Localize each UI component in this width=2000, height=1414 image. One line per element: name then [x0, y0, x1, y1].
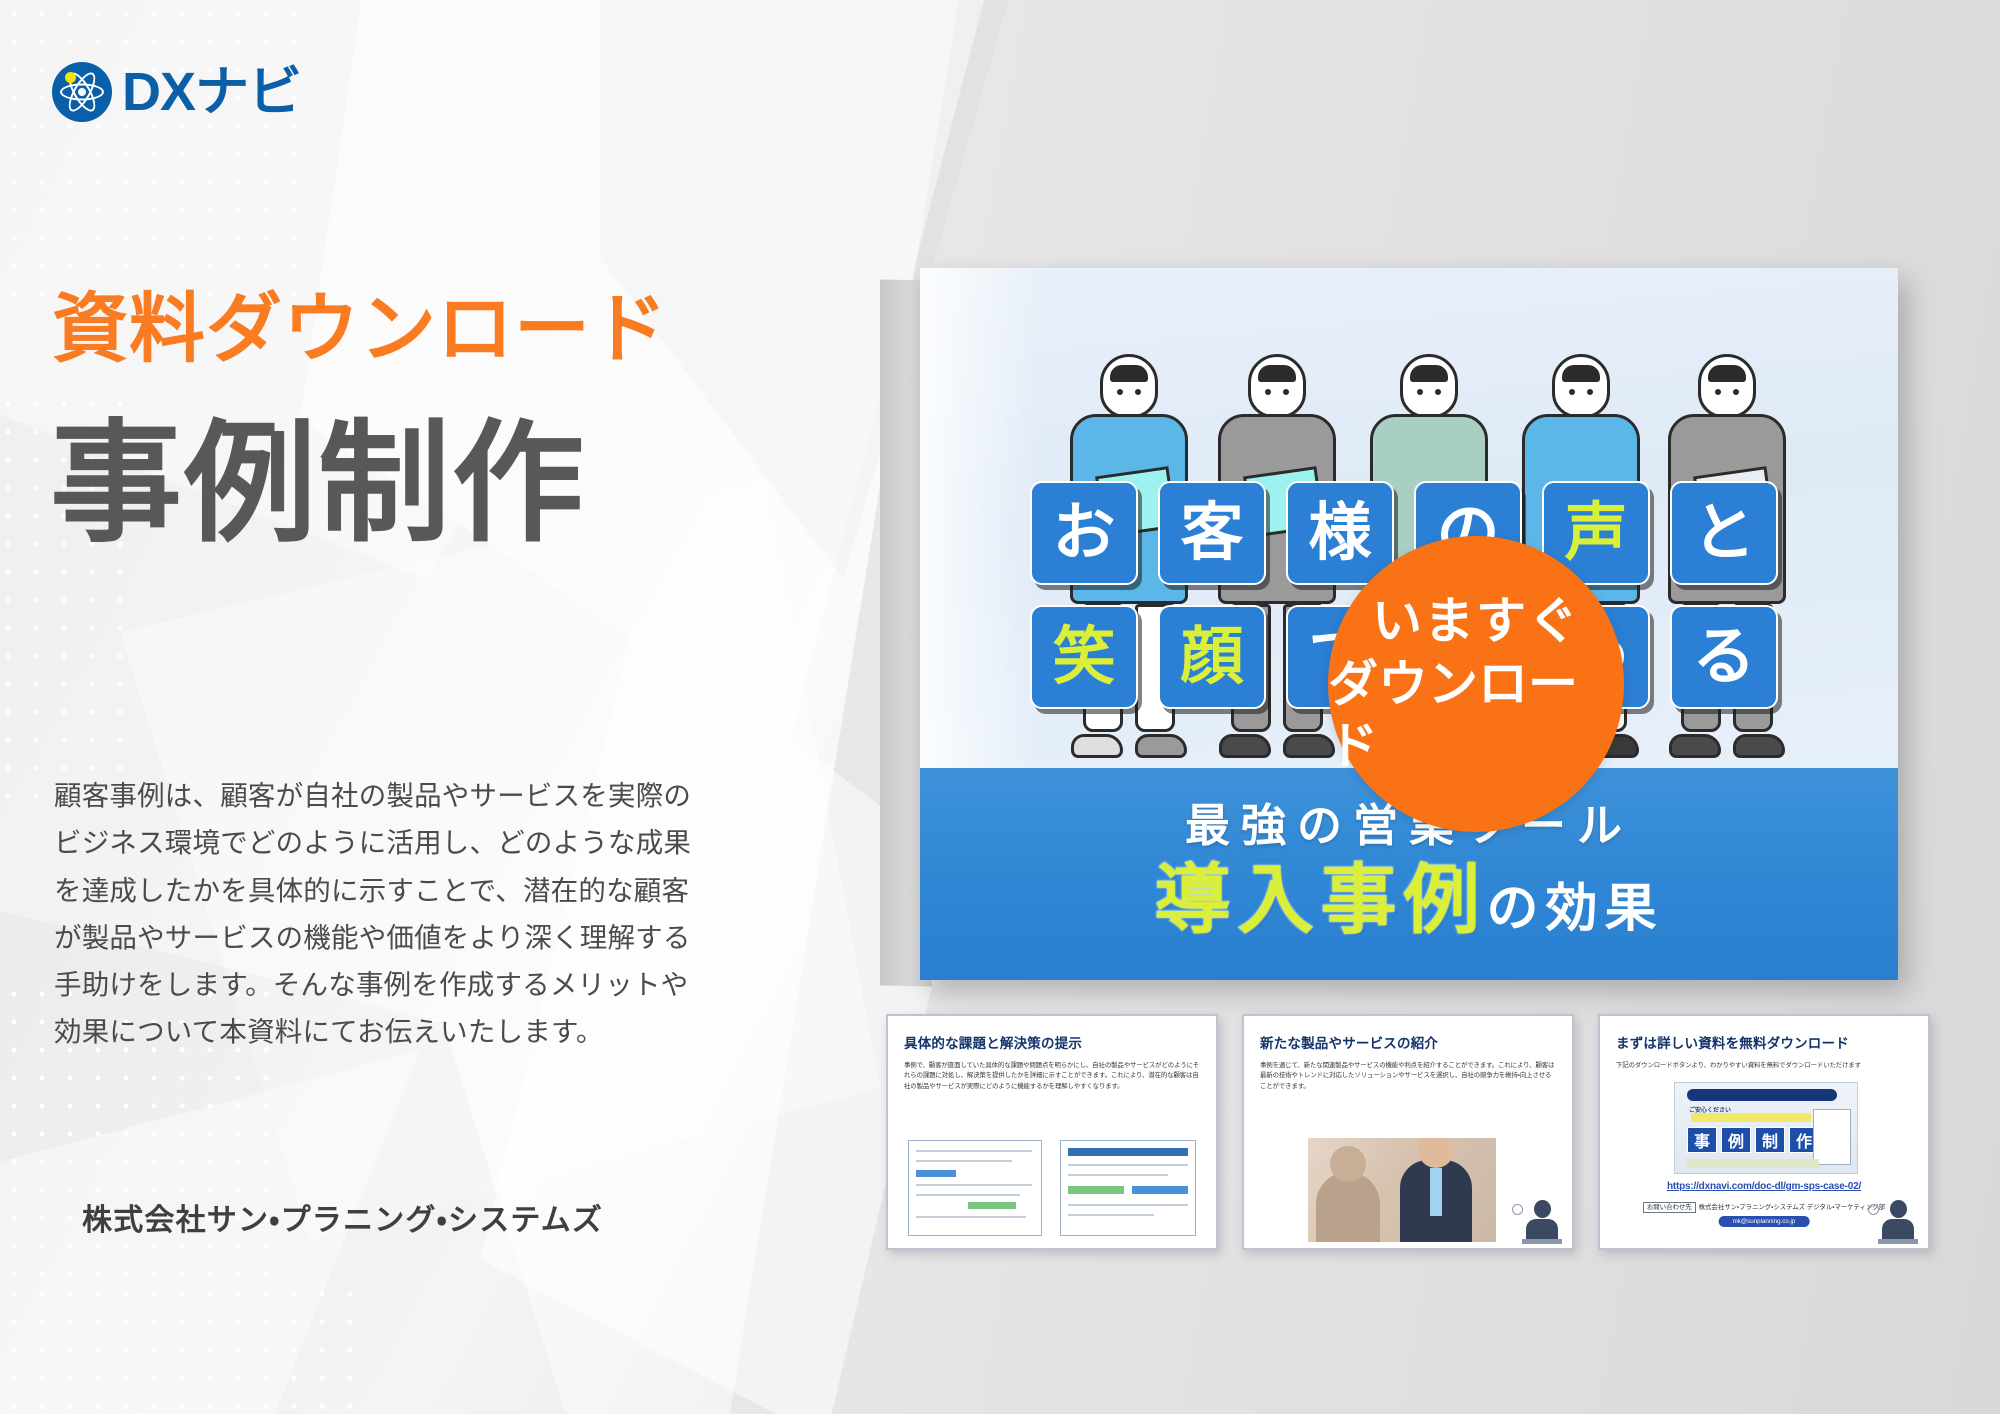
cover-tile: る: [1670, 605, 1778, 709]
body-description: 顧客事例は、顧客が自社の製品やサービスを実際のビジネス環境でどのように活用し、ど…: [54, 772, 702, 1056]
atom-icon: [52, 62, 112, 122]
contact-email[interactable]: mk@sunplanning.co.jp: [1719, 1216, 1810, 1227]
brand-logo-text: DXナビ: [122, 65, 301, 119]
ad-char-tile: 事: [1687, 1127, 1717, 1153]
cover-tile: 笑: [1030, 605, 1138, 709]
ad-char-tile: 制: [1755, 1127, 1785, 1153]
slide-thumbnail-list: 具体的な課題と解決策の提示 事例で、顧客が直面していた具体的な課題や問題点を明ら…: [886, 1014, 1930, 1250]
cover-tile: 顔: [1158, 605, 1266, 709]
kicker-heading: 資料ダウンロード: [52, 288, 668, 372]
download-badge[interactable]: いますぐ ダウンロード: [1328, 536, 1624, 832]
ad-character-tiles: 事 例 制 作: [1687, 1127, 1819, 1153]
thumbnail-photo: [1308, 1138, 1496, 1242]
company-name: 株式会社サン・プラニング・システムズ: [82, 1195, 603, 1239]
slide-thumbnail[interactable]: まずは詳しい資料を無料ダウンロード 下記のダウンロードボタンより、わかりやすい資…: [1598, 1014, 1930, 1250]
slide-thumbnail[interactable]: 新たな製品やサービスの紹介 事例を通じて、新たな関連製品やサービスの機能や利点を…: [1242, 1014, 1574, 1250]
cover-maintitle-tail: の効果: [1486, 880, 1663, 938]
presenter-icon: [1878, 1200, 1918, 1244]
contact-label: お問い合わせ先: [1643, 1202, 1696, 1213]
download-badge-line1: いますぐ: [1372, 590, 1580, 653]
slide-thumbnail-art: [1244, 1130, 1572, 1248]
presenter-icon: [1522, 1200, 1562, 1244]
contact-org: 株式会社サン・プラニング・システムズ デジタル・マーケティング部: [1699, 1204, 1885, 1211]
body-description-text: 顧客事例は、顧客が自社の製品やサービスを実際のビジネス環境でどのように活用し、ど…: [54, 772, 702, 1056]
cover-tile: と: [1670, 481, 1778, 585]
cover-maintitle: 導入事例の効果: [920, 838, 1898, 948]
cover-tile: 客: [1158, 481, 1266, 585]
slide-thumbnail-title: 新たな製品やサービスの紹介: [1260, 1032, 1556, 1052]
thumbnail-ad-block: ご安心ください 事 例 制 作: [1674, 1082, 1858, 1174]
slide-thumbnail-art: [888, 1130, 1216, 1248]
slide-thumbnail-title: 具体的な課題と解決策の提示: [904, 1032, 1200, 1052]
cover-tile: 様: [1286, 481, 1394, 585]
slide-thumbnail-body: 事例で、顧客が直面していた具体的な課題や問題点を明らかにし、自社の製品やサービス…: [904, 1061, 1200, 1092]
slide-thumbnail[interactable]: 具体的な課題と解決策の提示 事例で、顧客が直面していた具体的な課題や問題点を明ら…: [886, 1014, 1218, 1250]
brand-logo[interactable]: DXナビ: [52, 62, 301, 122]
slide-thumbnail-body: 事例を通じて、新たな関連製品やサービスの機能や利点を紹介することができます。これ…: [1260, 1061, 1556, 1092]
page-title: 事例制作: [50, 410, 586, 558]
download-badge-line2: ダウンロード: [1328, 653, 1624, 778]
slide-thumbnail-title: まずは詳しい資料を無料ダウンロード: [1616, 1032, 1912, 1052]
download-url-link[interactable]: https://dxnavi.com/doc-dl/gm-sps-case-02…: [1600, 1181, 1928, 1192]
cover-maintitle-highlight: 導入事例: [1154, 858, 1486, 943]
ad-char-tile: 例: [1721, 1127, 1751, 1153]
cover-tile: お: [1030, 481, 1138, 585]
left-content-column: DXナビ 資料ダウンロード 事例制作 顧客事例は、顧客が自社の製品やサービスを実…: [0, 0, 720, 1414]
page-canvas: DXナビ 資料ダウンロード 事例制作 顧客事例は、顧客が自社の製品やサービスを実…: [0, 0, 2000, 1414]
slide-thumbnail-body: 下記のダウンロードボタンより、わかりやすい資料を無料でダウンロードいただけます: [1616, 1061, 1912, 1071]
